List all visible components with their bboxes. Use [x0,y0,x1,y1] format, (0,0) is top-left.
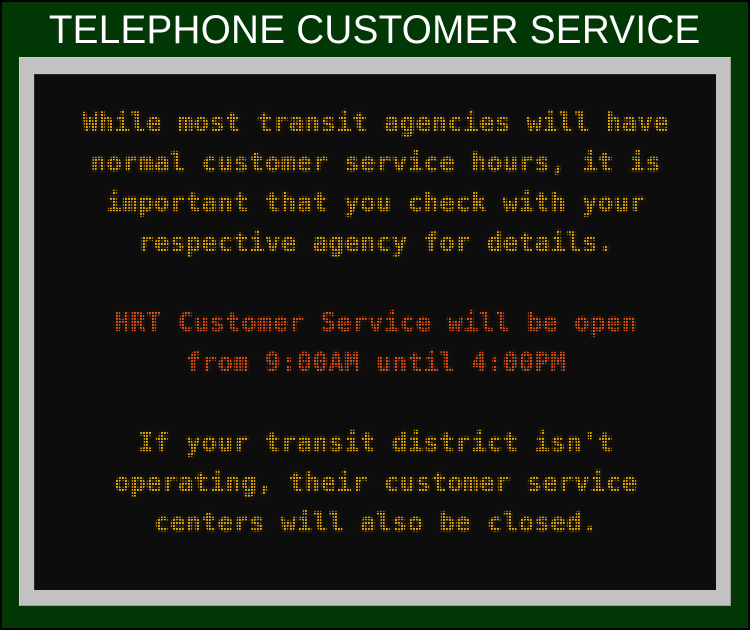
led-line-gap [35,263,716,303]
led-text-line: HRT Customer Service will be open [35,303,716,343]
led-bezel-frame: While most transit agencies will havenor… [19,57,731,606]
led-text-line: normal customer service hours, it is [35,143,716,183]
led-line-gap [35,383,716,423]
led-transit-sign: TELEPHONE CUSTOMER SERVICE While most tr… [0,0,750,630]
led-text-line: If your transit district isn't [35,423,716,463]
led-text-line: respective agency for details. [35,223,716,263]
led-text-line: While most transit agencies will have [35,103,716,143]
led-text-line: important that you check with your [35,183,716,223]
led-text-line: from 9:00AM until 4:00PM [35,343,716,383]
page-title: TELEPHONE CUSTOMER SERVICE [49,8,701,52]
led-text-line: operating, their customer service [35,463,716,503]
led-message-area: While most transit agencies will havenor… [35,75,716,543]
led-display-panel: While most transit agencies will havenor… [34,74,716,590]
sign-header: TELEPHONE CUSTOMER SERVICE [2,2,748,57]
led-text-line: centers will also be closed. [35,503,716,543]
sign-board-body: TELEPHONE CUSTOMER SERVICE While most tr… [2,2,748,628]
